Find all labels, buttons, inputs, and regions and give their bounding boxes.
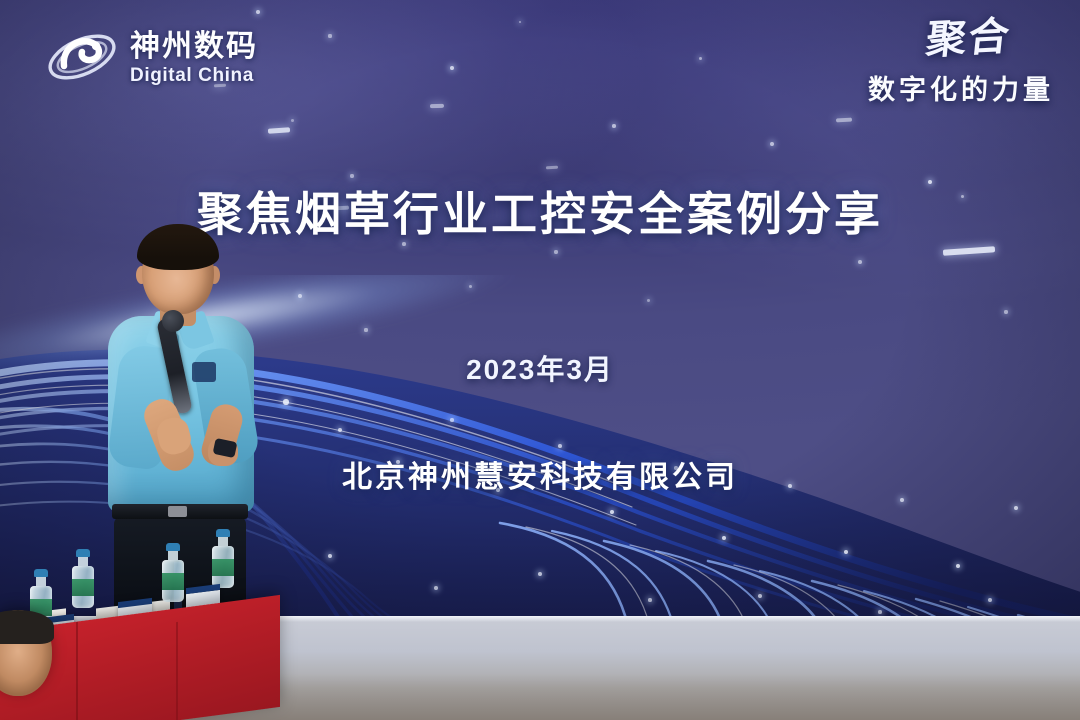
bottle-label	[162, 573, 184, 590]
bottle-label	[72, 579, 94, 596]
bottle-body	[162, 560, 184, 602]
presenter-hair	[137, 224, 219, 270]
bottle-cap	[166, 543, 180, 551]
brand-logo: 神州数码 Digital China	[44, 22, 294, 92]
slogan-sub-text: 数字化的力量	[794, 68, 1054, 107]
presenter-chest-logo-icon	[192, 362, 216, 382]
event-slogan: 聚合 数字化的力量	[794, 22, 1054, 118]
water-bottle	[162, 543, 184, 602]
digital-china-swirl-icon	[44, 26, 120, 88]
slogan-brush-text: 聚合	[791, 16, 1013, 67]
bottle-body	[72, 566, 94, 608]
table-cloth-fold	[76, 622, 78, 720]
bottle-cap	[216, 529, 230, 537]
brand-wordmark: 神州数码 Digital China	[130, 29, 258, 85]
table-cloth-fold	[176, 622, 178, 720]
bottle-neck	[78, 557, 88, 566]
conference-photo: 神州数码 Digital China 聚合 数字化的力量 聚焦烟草行业工控安全案…	[0, 0, 1080, 720]
brand-name-en: Digital China	[130, 66, 258, 85]
bottle-neck	[168, 551, 178, 560]
bottle-cap	[76, 549, 90, 557]
water-bottle	[72, 549, 94, 608]
brand-name-cn: 神州数码	[130, 32, 258, 62]
bottle-body	[212, 546, 234, 588]
water-bottle	[212, 529, 234, 588]
presenter-belt-buckle	[168, 506, 187, 517]
bottle-neck	[218, 537, 228, 546]
bottle-label	[212, 559, 234, 576]
bottle-cap	[34, 569, 48, 577]
bottle-neck	[36, 577, 46, 586]
